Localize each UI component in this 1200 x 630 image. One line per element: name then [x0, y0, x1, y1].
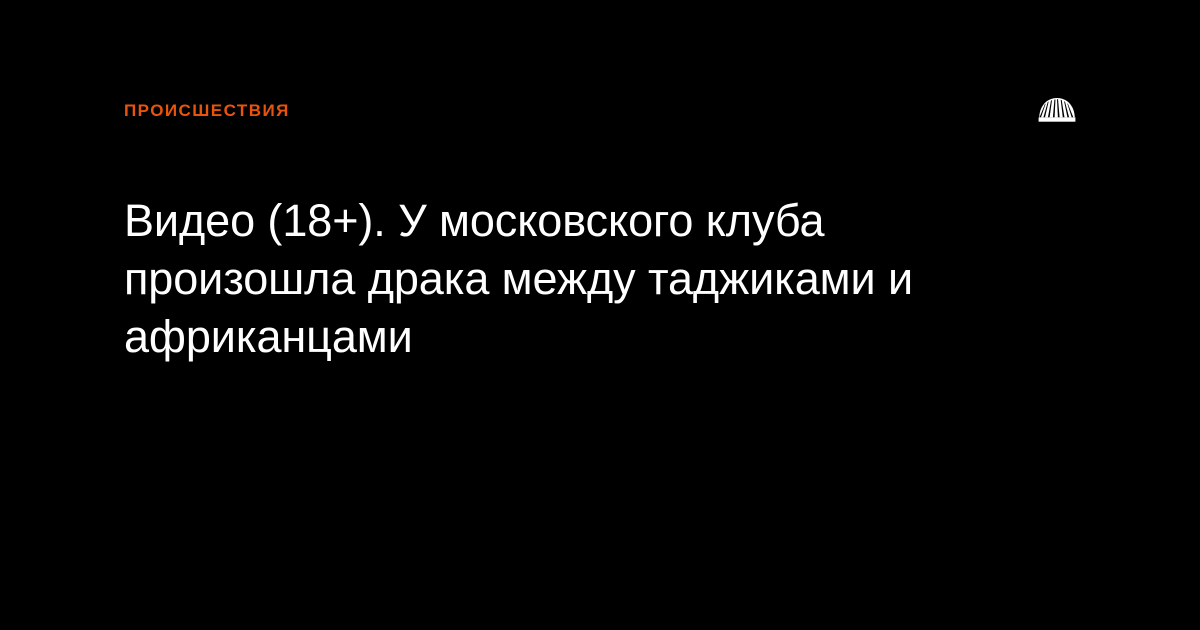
- page-title: Видео (18+). У московского клуба произош…: [124, 192, 954, 366]
- fan-sunburst-logo-icon[interactable]: [1038, 97, 1076, 123]
- card-header: ПРОИСШЕСТВИЯ: [124, 96, 1076, 124]
- news-share-card: ПРОИСШЕСТВИЯ Виде: [0, 0, 1200, 630]
- category-label[interactable]: ПРОИСШЕСТВИЯ: [124, 102, 290, 119]
